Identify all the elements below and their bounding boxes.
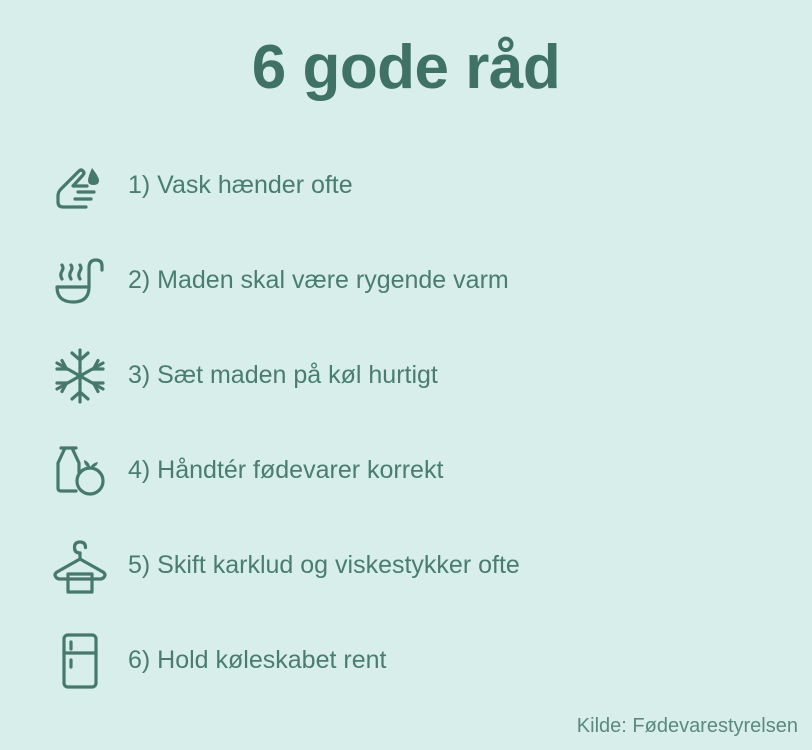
list-item-label: 5) Skift karklud og viskestykker ofte [128,550,520,581]
snowflake-icon [44,340,116,412]
page-title: 6 gode råd [0,34,812,102]
bottle-and-fruit-icon [44,435,116,507]
steaming-ladle-icon [44,245,116,317]
list-item-label: 2) Maden skal være rygende varm [128,265,509,296]
list-item-label: 3) Sæt maden på køl hurtigt [128,360,438,391]
refrigerator-icon [44,625,116,697]
list-item: 4) Håndtér fødevarer korrekt [44,423,784,518]
list-item: 5) Skift karklud og viskestykker ofte [44,518,784,613]
list-item-label: 1) Vask hænder ofte [128,170,353,201]
source-attribution: Kilde: Fødevarestyrelsen [577,715,798,738]
list-item: 1) Vask hænder ofte [44,138,784,233]
hand-washing-icon [44,150,116,222]
list-item: 2) Maden skal være rygende varm [44,233,784,328]
list-item: 3) Sæt maden på køl hurtigt [44,328,784,423]
poster-container: 6 gode råd 1) Vask hænder ofte [0,0,812,750]
list-item-label: 6) Hold køleskabet rent [128,645,386,676]
tips-list: 1) Vask hænder ofte 2) Maden skal være r… [44,138,784,708]
hanger-with-cloth-icon [44,530,116,602]
list-item-label: 4) Håndtér fødevarer korrekt [128,455,443,486]
list-item: 6) Hold køleskabet rent [44,613,784,708]
